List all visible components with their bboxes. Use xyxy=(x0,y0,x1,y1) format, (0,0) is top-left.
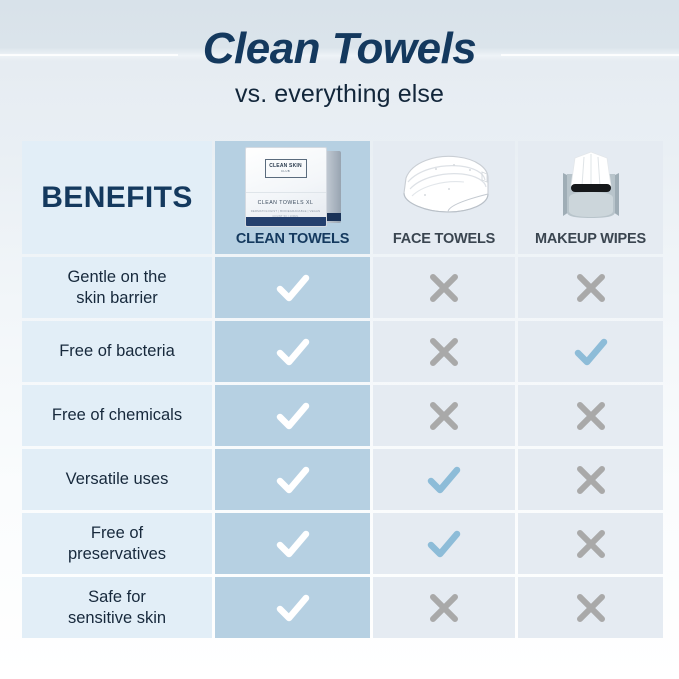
product-box-seam xyxy=(246,192,326,193)
cross-icon xyxy=(569,522,613,566)
cross-icon xyxy=(422,330,466,374)
check-blue-icon xyxy=(422,458,466,502)
product-box-front: CLEAN SKINCLUBCLEAN TOWELS XLDERMATOLOGI… xyxy=(245,147,327,227)
mark-cell-makeup-wipes-r2 xyxy=(518,321,663,382)
check-icon xyxy=(271,458,315,502)
mark-cell-makeup-wipes-r1 xyxy=(518,257,663,318)
cross-icon xyxy=(569,394,613,438)
mark-cell-clean-towels-r1 xyxy=(215,257,370,318)
product-name-text: CLEAN TOWELS XL xyxy=(246,200,326,206)
poster-header: Clean Towels vs. everything else xyxy=(0,0,679,109)
mark-cell-face-towels-r2 xyxy=(373,321,515,382)
benefit-label-free-of-chemicals: Free of chemicals xyxy=(22,385,212,446)
check-icon xyxy=(271,394,315,438)
column-header-label: MAKEUP WIPES xyxy=(535,231,646,247)
column-header-face-towels: FACE TOWELS xyxy=(373,141,515,254)
benefits-header-cell: BENEFITS xyxy=(22,141,212,254)
product-logo-sub: CLUB xyxy=(281,170,290,173)
wipes-pouch-icon xyxy=(541,146,641,226)
benefit-label-free-of-bacteria: Free of bacteria xyxy=(22,321,212,382)
product-box-base xyxy=(246,217,326,226)
benefit-label-gentle-on-the-skin-barrier: Gentle on theskin barrier xyxy=(22,257,212,318)
cross-icon xyxy=(569,586,613,630)
check-icon xyxy=(271,522,315,566)
mark-cell-makeup-wipes-r4 xyxy=(518,449,663,510)
mark-cell-clean-towels-r3 xyxy=(215,385,370,446)
mark-cell-face-towels-r3 xyxy=(373,385,515,446)
cross-icon xyxy=(422,394,466,438)
mark-cell-makeup-wipes-r6 xyxy=(518,577,663,638)
folded-towel-icon xyxy=(392,148,496,224)
check-blue-icon xyxy=(569,330,613,374)
mark-cell-makeup-wipes-r3 xyxy=(518,385,663,446)
page-title: Clean Towels xyxy=(0,24,679,73)
cross-icon xyxy=(422,266,466,310)
check-icon xyxy=(271,586,315,630)
product-box-base-side xyxy=(325,213,341,221)
benefit-label-safe-for-sensitive-skin: Safe forsensitive skin xyxy=(22,577,212,638)
check-blue-icon xyxy=(422,522,466,566)
benefit-label-versatile-uses: Versatile uses xyxy=(22,449,212,510)
benefit-label-free-of-preservatives: Free ofpreservatives xyxy=(22,513,212,574)
column-art-clean-towels: CLEAN SKINCLUBCLEAN TOWELS XLDERMATOLOGI… xyxy=(215,141,370,231)
product-logo: CLEAN SKINCLUB xyxy=(265,159,307,178)
page-subtitle: vs. everything else xyxy=(0,79,679,109)
column-header-makeup-wipes: MAKEUP WIPES xyxy=(518,141,663,254)
cross-icon xyxy=(569,266,613,310)
column-header-label: FACE TOWELS xyxy=(393,231,495,247)
cross-icon xyxy=(422,586,466,630)
mark-cell-face-towels-r6 xyxy=(373,577,515,638)
comparison-table: BENEFITSCLEAN SKINCLUBCLEAN TOWELS XLDER… xyxy=(22,141,657,638)
mark-cell-makeup-wipes-r5 xyxy=(518,513,663,574)
cross-icon xyxy=(569,458,613,502)
comparison-poster: Clean Towels vs. everything else BENEFIT… xyxy=(0,0,679,679)
check-icon xyxy=(271,266,315,310)
mark-cell-face-towels-r4 xyxy=(373,449,515,510)
mark-cell-clean-towels-r4 xyxy=(215,449,370,510)
column-art-makeup-wipes xyxy=(518,141,663,231)
benefits-header-label: BENEFITS xyxy=(41,181,193,215)
mark-cell-face-towels-r5 xyxy=(373,513,515,574)
mark-cell-clean-towels-r2 xyxy=(215,321,370,382)
product-fine-text-1: DERMATOLOGIST | BIODEGRADABLE | VEGAN xyxy=(246,209,326,213)
mark-cell-clean-towels-r6 xyxy=(215,577,370,638)
column-header-clean-towels: CLEAN SKINCLUBCLEAN TOWELS XLDERMATOLOGI… xyxy=(215,141,370,254)
check-icon xyxy=(271,330,315,374)
product-box-icon: CLEAN SKINCLUBCLEAN TOWELS XLDERMATOLOGI… xyxy=(245,145,341,227)
column-art-face-towels xyxy=(373,141,515,231)
mark-cell-face-towels-r1 xyxy=(373,257,515,318)
column-header-label: CLEAN TOWELS xyxy=(236,231,349,247)
mark-cell-clean-towels-r5 xyxy=(215,513,370,574)
